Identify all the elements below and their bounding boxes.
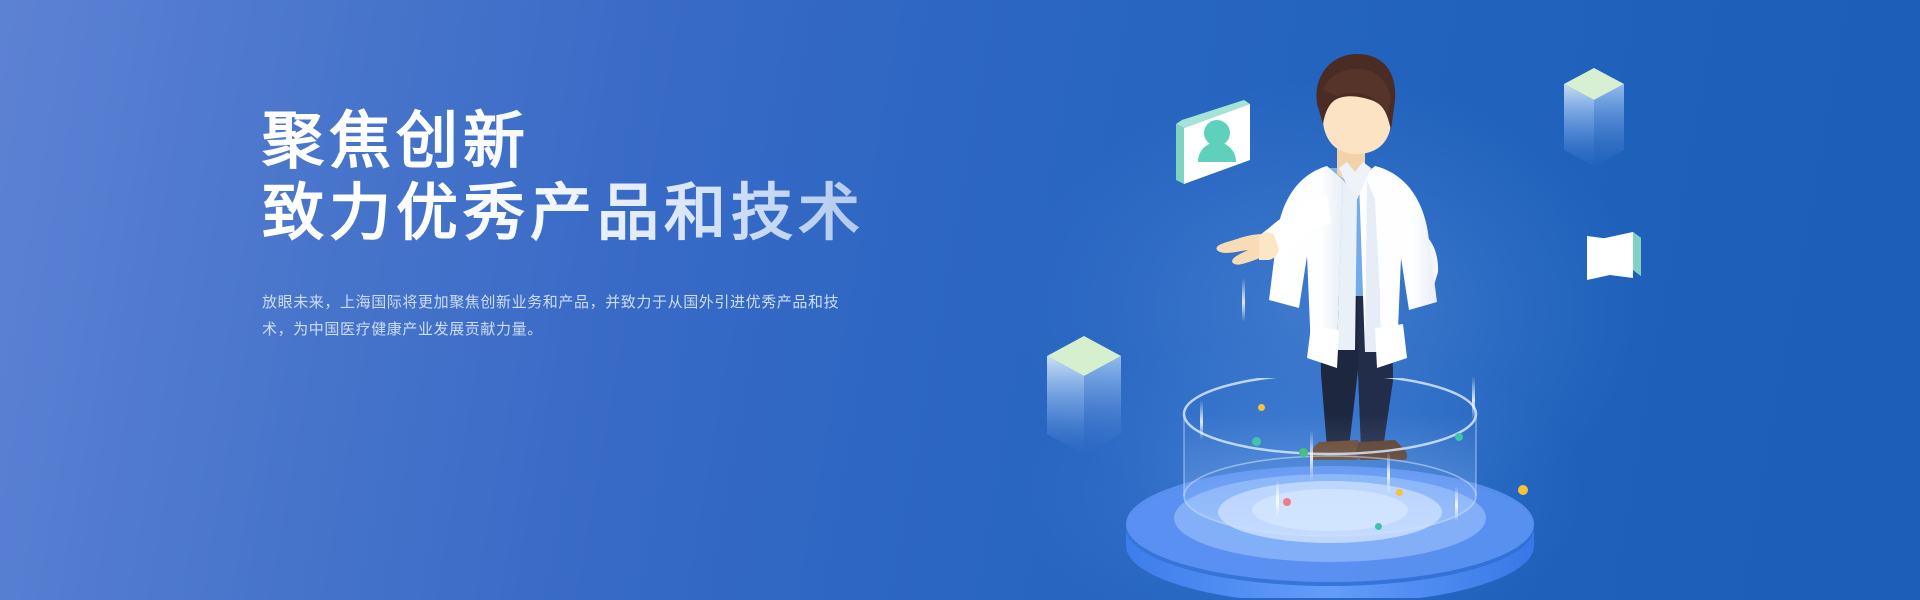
particle-teal-2: [1455, 433, 1463, 441]
light-streak: [1242, 278, 1245, 322]
hero-banner: 聚焦创新 致力优秀产品和技术 放眼未来，上海国际将更加聚焦创新业务和产品，并致力…: [0, 0, 1920, 600]
particle-yellow-1: [1258, 404, 1265, 411]
light-streak: [1310, 430, 1313, 482]
floating-card-icon: [1583, 228, 1645, 295]
particle-pink-1: [1283, 498, 1291, 506]
light-streak: [1455, 486, 1458, 522]
light-streak: [1200, 400, 1203, 440]
light-streak: [1387, 452, 1390, 494]
particle-teal-1: [1252, 437, 1261, 446]
banner-illustration: [0, 0, 1920, 600]
particle-yellow-2: [1396, 489, 1403, 496]
light-streak: [1276, 480, 1279, 518]
isometric-pillar-icon: [1560, 62, 1630, 177]
light-streak: [1380, 290, 1383, 338]
holographic-platform-icon: [1120, 378, 1540, 600]
isometric-pillar-lower-icon: [1043, 330, 1125, 465]
particle-green-1: [1299, 448, 1308, 457]
light-streak: [1472, 376, 1475, 420]
particle-yellow-3: [1518, 485, 1528, 495]
particle-teal-3: [1375, 523, 1382, 530]
